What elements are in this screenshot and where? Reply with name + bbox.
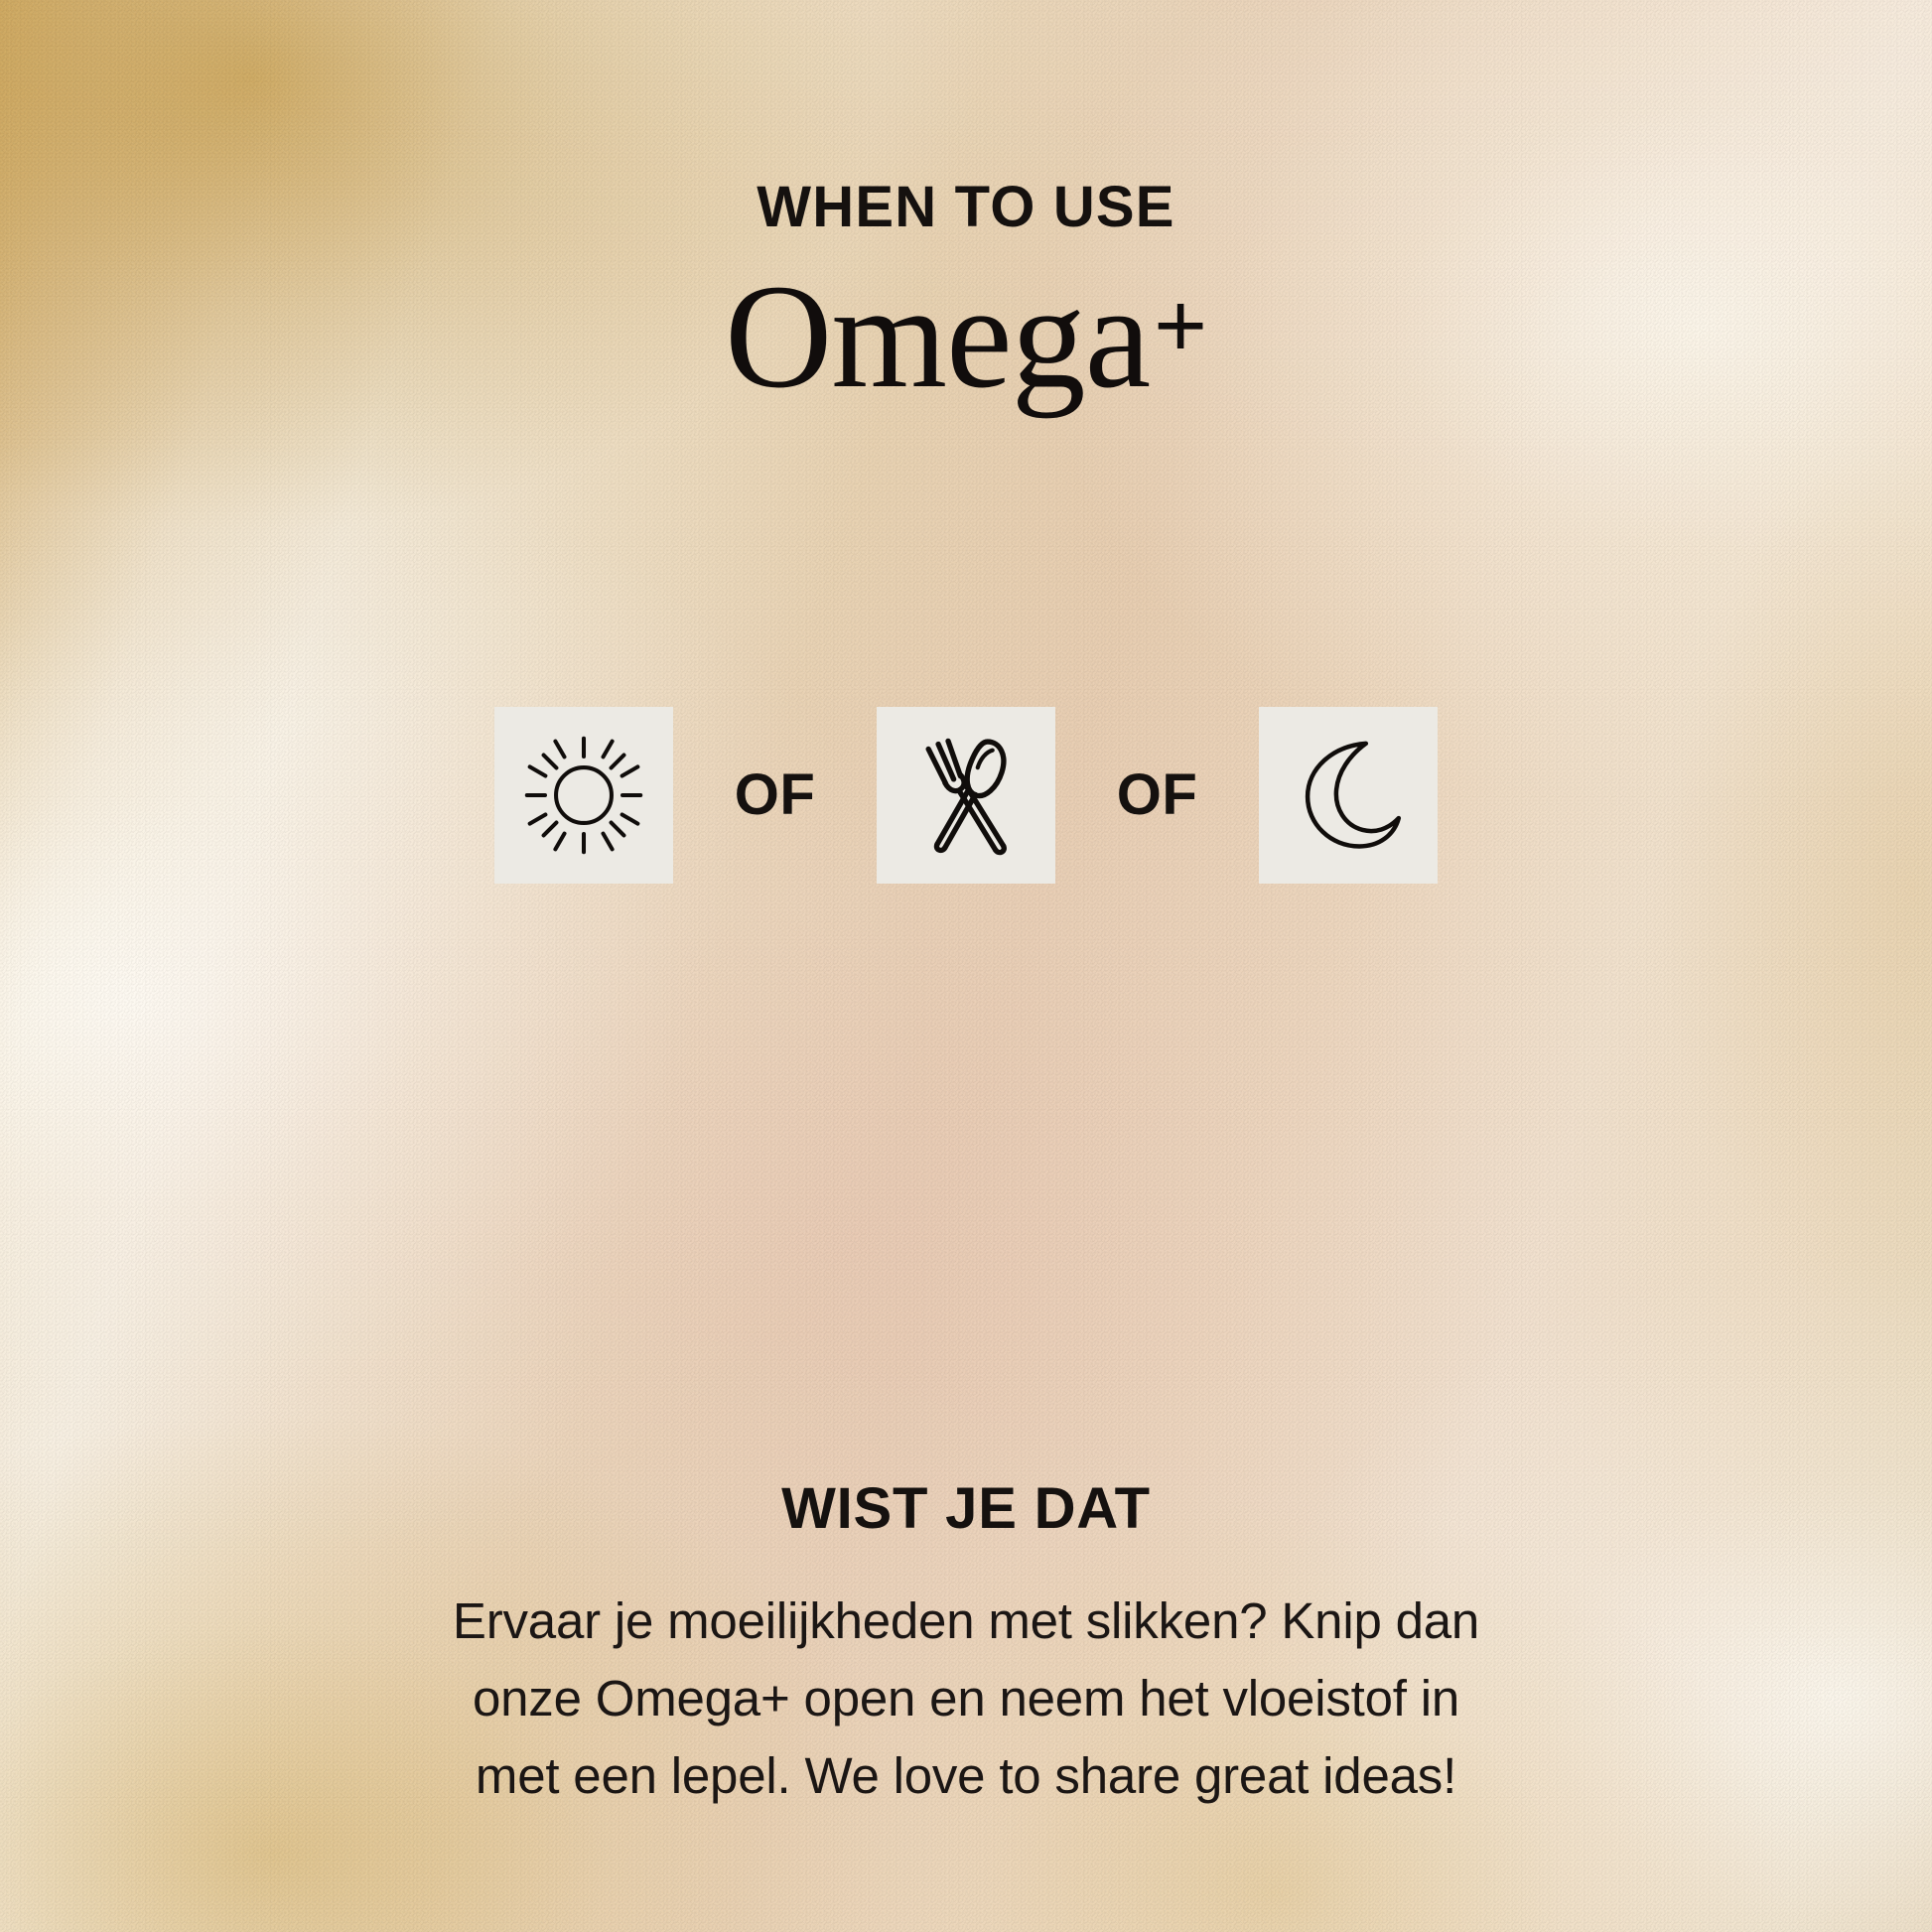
footer-heading: WIST JE DAT [0,1480,1932,1538]
usage-tile-evening [1259,707,1438,884]
usage-tile-with-meal [877,707,1055,884]
footer-body-line: met een lepel. We love to share great id… [370,1737,1562,1815]
footer-body: Ervaar je moeilijkheden met slikken? Kni… [370,1583,1562,1815]
brand-wordmark: Omega+ [0,262,1932,411]
footer-body-line: Ervaar je moeilijkheden met slikken? Kni… [370,1583,1562,1660]
poster-canvas: WHEN TO USE Omega+ [0,0,1932,1932]
usage-icon-row: OF [0,707,1932,884]
moon-icon [1283,730,1414,861]
cutlery-icon [903,729,1029,862]
usage-tile-morning [494,707,673,884]
brand-wordmark-plus: + [1154,275,1207,376]
usage-conjunction-2: OF [1055,766,1259,824]
poster-content: WHEN TO USE Omega+ [0,0,1932,1932]
brand-wordmark-name: Omega [725,254,1150,419]
eyebrow-heading: WHEN TO USE [0,179,1932,236]
footer-body-line: onze Omega+ open en neem het vloeistof i… [370,1660,1562,1737]
usage-conjunction-1: OF [673,766,877,824]
sun-icon [519,731,648,860]
